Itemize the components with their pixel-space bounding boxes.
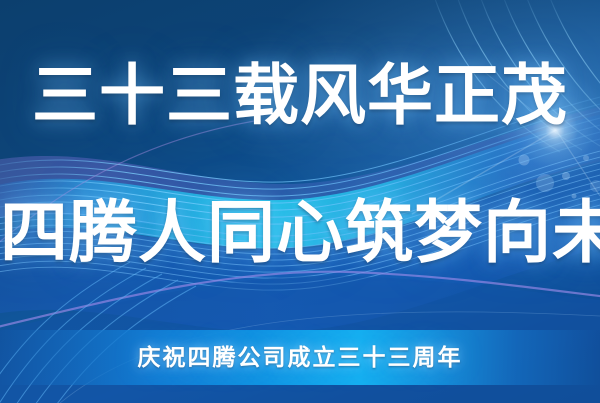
headline-line-2: 四腾人同心筑梦向未来 — [0, 190, 600, 276]
headline-line-1: 三十三载风华正茂 — [0, 52, 600, 138]
anniversary-poster: 三十三载风华正茂 四腾人同心筑梦向未来 庆祝四腾公司成立三十三周年 — [0, 0, 600, 403]
subtitle-text: 庆祝四腾公司成立三十三周年 — [0, 338, 600, 376]
